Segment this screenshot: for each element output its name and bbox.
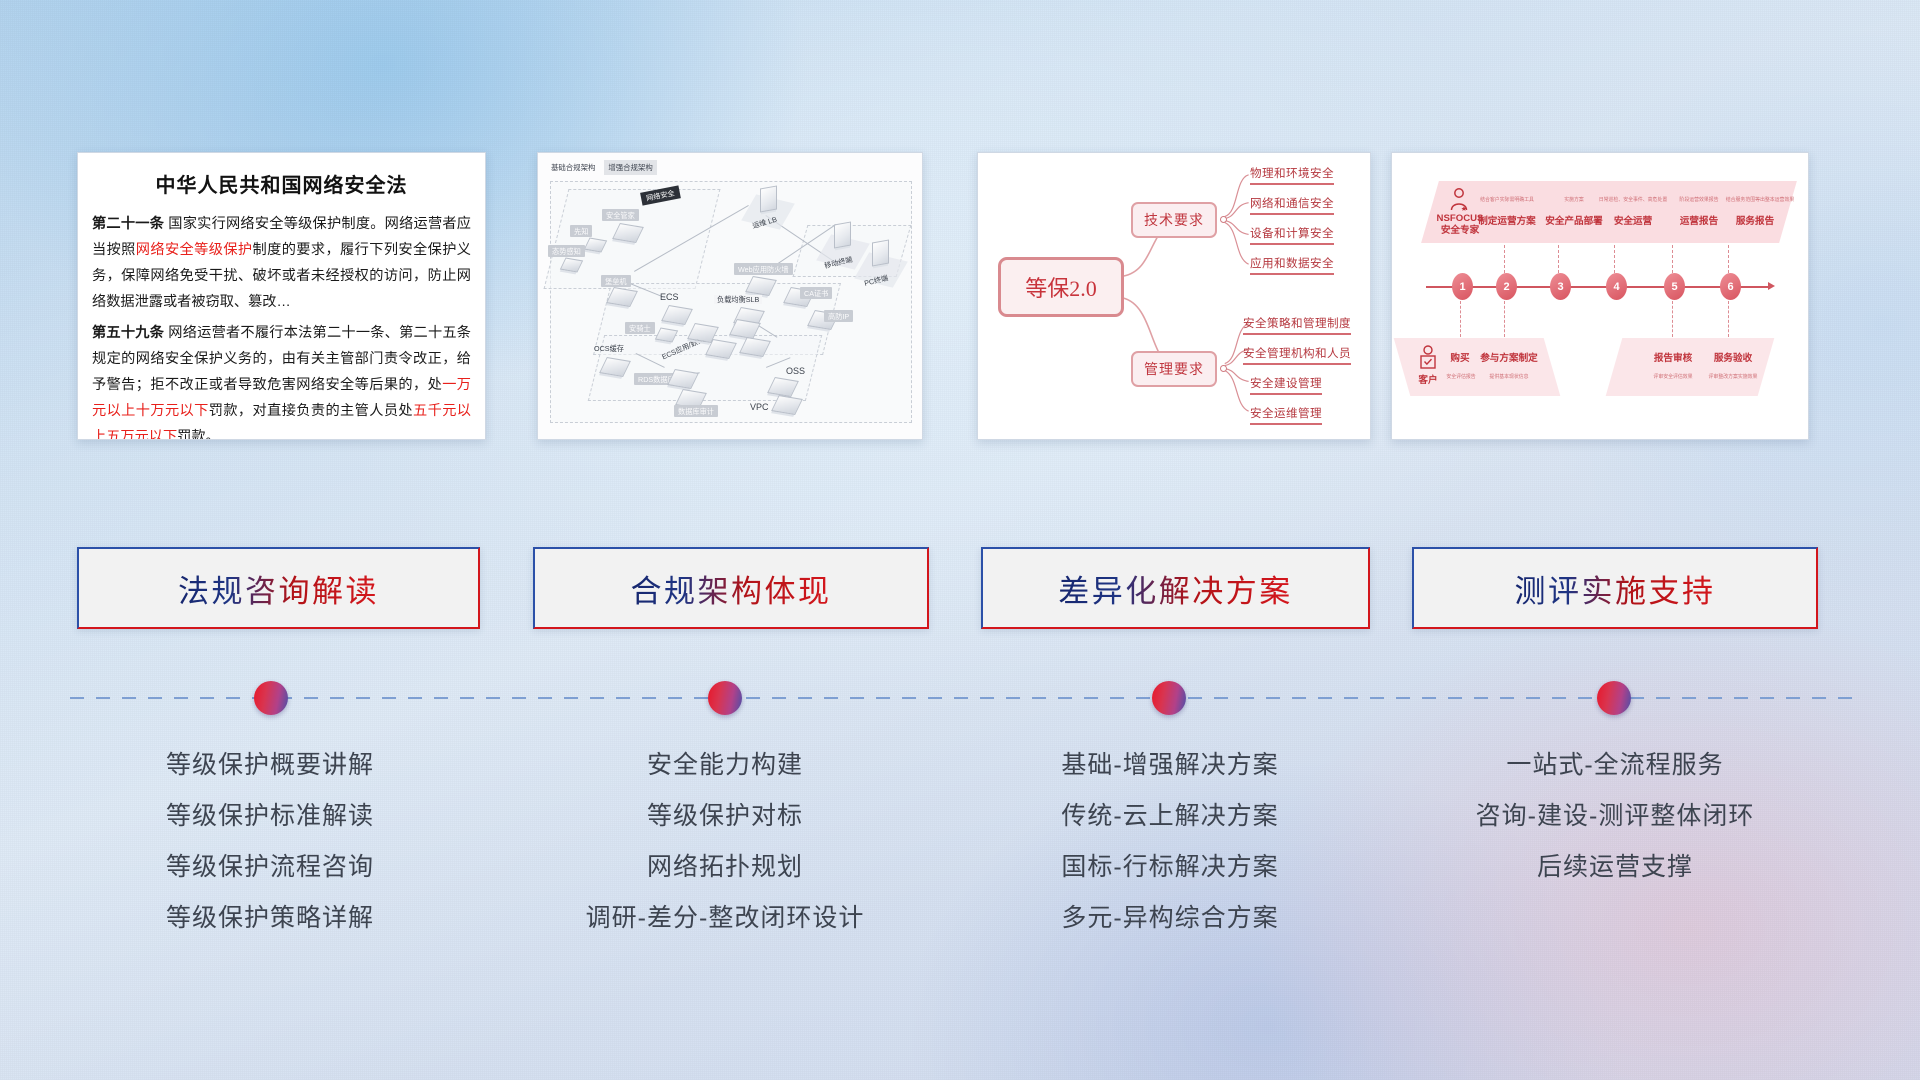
law-article-21-label: 第二十一条 bbox=[92, 216, 164, 232]
poster-root: 中华人民共和国网络安全法 第二十一条 国家实行网络安全等级保护制度。网络运营者应… bbox=[0, 0, 1920, 1080]
mindmap-leaf: 安全策略和管理制度 bbox=[1243, 315, 1351, 335]
section-items-list-2: 安全能力构建 等级保护对标 网络拓扑规划 调研-差分-整改闭环设计 bbox=[505, 740, 945, 944]
mindmap-root-node: 等保2.0 bbox=[998, 257, 1124, 317]
list-item: 等级保护流程咨询 bbox=[60, 842, 480, 893]
law-article-59-label: 第五十九条 bbox=[92, 325, 164, 341]
law-article-59-part-b: 罚款，对直接负责的主管人员处 bbox=[209, 403, 413, 419]
card-law-text: 中华人民共和国网络安全法 第二十一条 国家实行网络安全等级保护制度。网络运营者应… bbox=[77, 152, 486, 440]
section-items-list-3: 基础-增强解决方案 传统-云上解决方案 国标-行标解决方案 多元-异构综合方案 bbox=[960, 740, 1380, 944]
list-item: 后续运营支撑 bbox=[1400, 842, 1830, 893]
node-label: CA证书 bbox=[800, 287, 832, 299]
step-main-label: 服务报告 bbox=[1722, 216, 1788, 228]
node-label: 高防IP bbox=[824, 310, 853, 322]
card-architecture-diagram: 基础合规架构 增强合规架构 网络安全 安全管家 bbox=[537, 152, 923, 440]
step-main-label: 制定运营方案 bbox=[1470, 216, 1544, 228]
node-label: Web应用防火墙 bbox=[734, 263, 793, 275]
list-item: 传统-云上解决方案 bbox=[960, 791, 1380, 842]
list-item: 等级保护标准解读 bbox=[60, 791, 480, 842]
node-label: OSS bbox=[786, 367, 805, 376]
node-label: 负载均衡SLB bbox=[714, 295, 762, 304]
section-title-box-3[interactable]: 差异化解决方案 bbox=[981, 547, 1370, 629]
customer-avatar-icon bbox=[1418, 345, 1438, 373]
list-item: 国标-行标解决方案 bbox=[960, 842, 1380, 893]
timeline-marker-dot-2[interactable] bbox=[708, 681, 742, 715]
leader-line bbox=[1504, 301, 1505, 337]
leader-line bbox=[1728, 301, 1729, 337]
timeline-marker-dot-4[interactable] bbox=[1597, 681, 1631, 715]
timeline-marker-dot-3[interactable] bbox=[1152, 681, 1186, 715]
node-label: 数据库审计 bbox=[674, 405, 718, 417]
law-article-21: 第二十一条 国家实行网络安全等级保护制度。网络运营者应当按照网络安全等级保护制度… bbox=[92, 211, 471, 315]
leader-line bbox=[1672, 301, 1673, 337]
customer-step-main: 报告审核 bbox=[1642, 353, 1704, 365]
step-sub-label: 结合客户实际需明确工具 bbox=[1470, 196, 1544, 203]
mindmap-branch-technical: 技术要求 bbox=[1131, 202, 1217, 238]
section-title-box-2[interactable]: 合规架构体现 bbox=[533, 547, 929, 629]
tab-basic-compliance[interactable]: 基础合规架构 bbox=[547, 160, 599, 175]
card-service-timeline: NSFOCUS 安全专家 结合客户实际需明确工具 制定运营方案 实施方案 安全产… bbox=[1391, 152, 1809, 440]
customer-lane-band-right bbox=[1606, 338, 1775, 396]
list-item: 安全能力构建 bbox=[505, 740, 945, 791]
customer-step-main: 服务验收 bbox=[1702, 353, 1764, 365]
list-item: 咨询-建设-测评整体闭环 bbox=[1400, 791, 1830, 842]
service-timeline-canvas: NSFOCUS 安全专家 结合客户实际需明确工具 制定运营方案 实施方案 安全产… bbox=[1392, 153, 1808, 439]
customer-step-sub: 提供基本现状信息 bbox=[1476, 373, 1542, 380]
mindmap-leaf: 物理和环境安全 bbox=[1250, 165, 1334, 185]
node-label: 安全管家 bbox=[602, 209, 639, 221]
cube-icon bbox=[834, 222, 851, 249]
mindmap-expand-dot-management[interactable] bbox=[1220, 365, 1227, 372]
section-title-text: 测评实施支持 bbox=[1515, 566, 1716, 611]
law-article-59-part-c: 罚款。 bbox=[177, 429, 220, 440]
architecture-canvas: 基础合规架构 增强合规架构 网络安全 安全管家 bbox=[538, 153, 922, 439]
mindmap-leaf: 安全建设管理 bbox=[1250, 375, 1322, 395]
law-title: 中华人民共和国网络安全法 bbox=[78, 169, 485, 198]
leader-line bbox=[1672, 245, 1673, 273]
section-title-box-1[interactable]: 法规咨询解读 bbox=[77, 547, 480, 629]
mindmap-leaf: 安全管理机构和人员 bbox=[1243, 345, 1351, 365]
mindmap-leaf: 安全运维管理 bbox=[1250, 405, 1322, 425]
node-label: VPC bbox=[750, 403, 769, 412]
timeline-step-node[interactable]: 1 bbox=[1452, 273, 1473, 300]
node-label: 堡垒机 bbox=[601, 275, 631, 287]
node-label: ECS bbox=[660, 293, 679, 302]
step-main-label: 安全产品部署 bbox=[1540, 216, 1608, 228]
expert-avatar-icon bbox=[1448, 187, 1470, 211]
timeline-step-node[interactable]: 3 bbox=[1550, 273, 1571, 300]
section-title-box-4[interactable]: 测评实施支持 bbox=[1412, 547, 1818, 629]
law-article-21-highlight: 网络安全等级保护 bbox=[136, 242, 253, 258]
timeline-step-node[interactable]: 5 bbox=[1664, 273, 1685, 300]
timeline-axis bbox=[1426, 286, 1770, 288]
cube-icon bbox=[760, 186, 777, 213]
timeline-dashed-line bbox=[70, 697, 1852, 699]
step-main-label: 安全运营 bbox=[1604, 216, 1662, 228]
section-title-text: 法规咨询解读 bbox=[178, 566, 379, 611]
node-label: OCS缓存 bbox=[594, 345, 624, 352]
node-label: 先知 bbox=[570, 225, 592, 237]
customer-step-main: 参与方案制定 bbox=[1478, 353, 1540, 365]
timeline-step-node[interactable]: 2 bbox=[1496, 273, 1517, 300]
customer-step-sub: 评审整改方案实施效果 bbox=[1696, 373, 1770, 380]
list-item: 等级保护策略详解 bbox=[60, 893, 480, 944]
timeline-step-node[interactable]: 4 bbox=[1606, 273, 1627, 300]
mindmap-canvas: 等保2.0 技术要求 物理和环境安全 网络和通信安全 设备和计算安全 应用和数据… bbox=[978, 153, 1370, 439]
leader-line bbox=[1614, 245, 1615, 273]
node-label: 安骑士 bbox=[625, 322, 655, 334]
section-title-text: 合规架构体现 bbox=[631, 566, 832, 611]
mindmap-branch-management: 管理要求 bbox=[1131, 351, 1217, 387]
step-sub-label: 结合服务范围等出整本运营效果 bbox=[1718, 196, 1802, 203]
law-article-59: 第五十九条 网络运营者不履行本法第二十一条、第二十五条规定的网络安全保护义务的，… bbox=[92, 320, 471, 440]
list-item: 网络拓扑规划 bbox=[505, 842, 945, 893]
section-title-text: 差异化解决方案 bbox=[1058, 566, 1293, 611]
node-label: 态势感知 bbox=[548, 245, 585, 257]
law-body: 第二十一条 国家实行网络安全等级保护制度。网络运营者应当按照网络安全等级保护制度… bbox=[92, 211, 471, 440]
mindmap-leaf: 网络和通信安全 bbox=[1250, 195, 1334, 215]
mindmap-expand-dot-technical[interactable] bbox=[1220, 216, 1227, 223]
mindmap-leaf: 应用和数据安全 bbox=[1250, 255, 1334, 275]
list-item: 一站式-全流程服务 bbox=[1400, 740, 1830, 791]
list-item: 基础-增强解决方案 bbox=[960, 740, 1380, 791]
mindmap-leaf: 设备和计算安全 bbox=[1250, 225, 1334, 245]
leader-line bbox=[1460, 301, 1461, 337]
leader-line bbox=[1728, 245, 1729, 273]
timeline-axis-arrow-icon bbox=[1768, 282, 1775, 290]
list-item: 等级保护概要讲解 bbox=[60, 740, 480, 791]
list-item: 等级保护对标 bbox=[505, 791, 945, 842]
customer-step-main: 购买 bbox=[1442, 353, 1478, 365]
leader-line bbox=[1558, 245, 1559, 273]
card-mindmap: 等保2.0 技术要求 物理和环境安全 网络和通信安全 设备和计算安全 应用和数据… bbox=[977, 152, 1371, 440]
list-item: 多元-异构综合方案 bbox=[960, 893, 1380, 944]
leader-line bbox=[1504, 245, 1505, 273]
list-item: 调研-差分-整改闭环设计 bbox=[505, 893, 945, 944]
timeline-marker-dot-1[interactable] bbox=[254, 681, 288, 715]
cube-icon bbox=[872, 240, 889, 267]
section-items-list-1: 等级保护概要讲解 等级保护标准解读 等级保护流程咨询 等级保护策略详解 bbox=[60, 740, 480, 944]
tab-enhanced-compliance[interactable]: 增强合规架构 bbox=[604, 160, 656, 175]
architecture-tabs: 基础合规架构 增强合规架构 bbox=[547, 160, 657, 175]
section-items-list-4: 一站式-全流程服务 咨询-建设-测评整体闭环 后续运营支撑 bbox=[1400, 740, 1830, 893]
timeline-step-node[interactable]: 6 bbox=[1720, 273, 1741, 300]
